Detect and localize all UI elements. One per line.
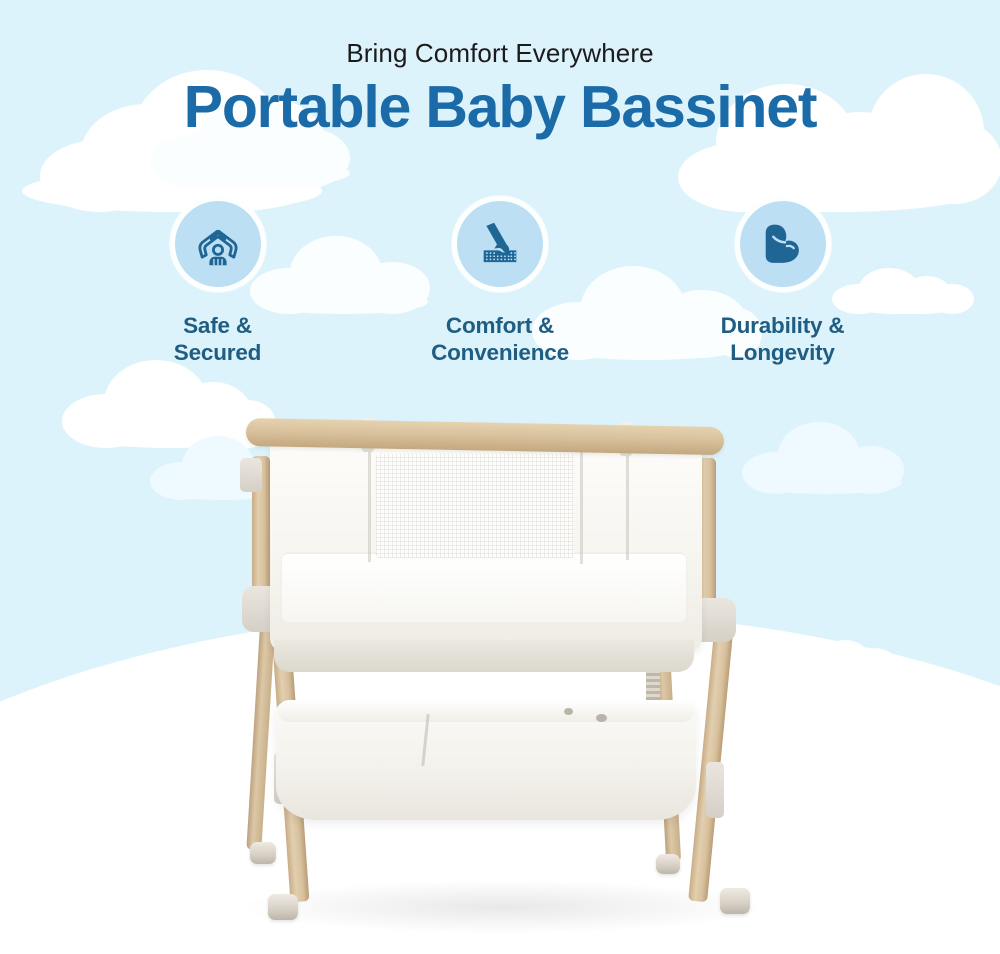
promo-banner: Bring Comfort Everywhere Portable Baby B… [0,0,1000,954]
storage-basket-grommet-right [596,714,607,722]
badge-comfort-convenience [452,196,548,292]
badge-safe-secured [170,196,266,292]
caster-front-left [268,894,298,920]
seam-right [580,446,583,564]
storage-basket-grommet-left [564,708,573,715]
bassinet-body-underside [274,640,694,672]
caster-rear-right [656,854,680,874]
feature-list: Safe & Secured [110,196,890,366]
caster-rear-left [250,842,276,864]
feature-label-line2: Longevity [730,340,834,365]
feature-item-safe-secured: Safe & Secured [110,196,325,366]
breathable-mesh-panel [376,454,574,558]
portable-baby-bassinet-photo [228,402,776,942]
hand-pressing-mattress-icon [471,215,529,273]
feature-label-durability-longevity: Durability & Longevity [721,313,845,366]
header: Bring Comfort Everywhere Portable Baby B… [0,38,1000,140]
feature-label-safe-secured: Safe & Secured [174,313,261,366]
flexed-bicep-icon [756,217,810,271]
storage-basket-rim [278,700,694,722]
joint-right-lower [706,762,724,818]
badge-durability-longevity [735,196,831,292]
feature-label-line1: Safe & [183,313,252,338]
eyebrow-text: Bring Comfort Everywhere [0,38,1000,69]
feature-label-line1: Comfort & [446,313,554,338]
bassinet-front-pad [282,554,686,622]
seam-left [368,444,371,562]
page-title: Portable Baby Bassinet [0,76,1000,140]
caster-front-right [720,888,750,914]
feature-label-comfort-convenience: Comfort & Convenience [431,313,569,366]
seam-far-right [626,446,629,560]
feature-label-line2: Secured [174,340,261,365]
clamp-upper-left [240,458,262,492]
protecting-hands-over-person-icon [189,215,247,273]
feature-label-line1: Durability & [721,313,845,338]
feature-item-durability-longevity: Durability & Longevity [675,196,890,366]
feature-label-line2: Convenience [431,340,569,365]
feature-item-comfort-convenience: Comfort & Convenience [393,196,608,366]
